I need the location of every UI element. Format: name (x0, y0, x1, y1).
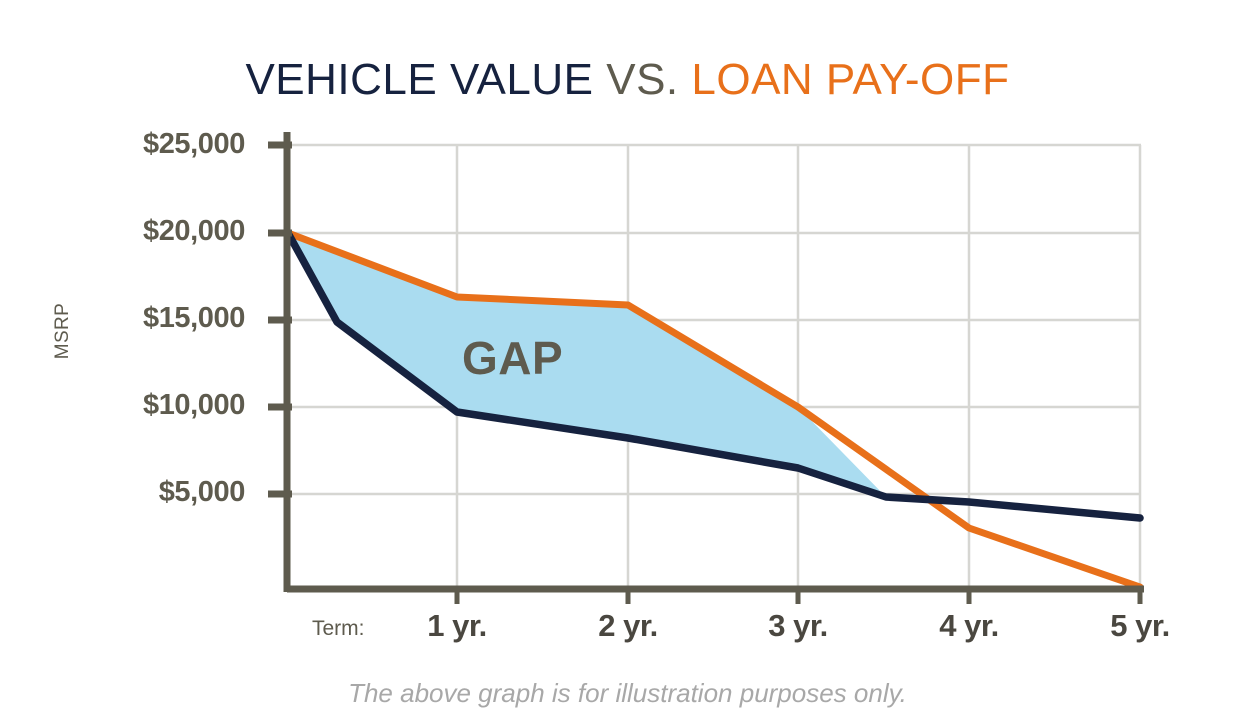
chart-container: VEHICLE VALUE VS. LOAN PAY-OFF MSRP $25,… (0, 0, 1255, 709)
gap-annotation-label: GAP (462, 331, 563, 385)
x-tick-label-4yr: 4 yr. (899, 608, 1039, 644)
x-tick-label-2yr: 2 yr. (558, 608, 698, 644)
x-axis-term-label: Term: (312, 617, 365, 641)
plot-area (0, 0, 1255, 709)
x-tick-label-3yr: 3 yr. (728, 608, 868, 644)
chart-footnote: The above graph is for illustration purp… (0, 678, 1255, 709)
x-tick-label-5yr: 5 yr. (1070, 608, 1210, 644)
x-tick-label-1yr: 1 yr. (387, 608, 527, 644)
gap-fill-region (288, 233, 886, 497)
